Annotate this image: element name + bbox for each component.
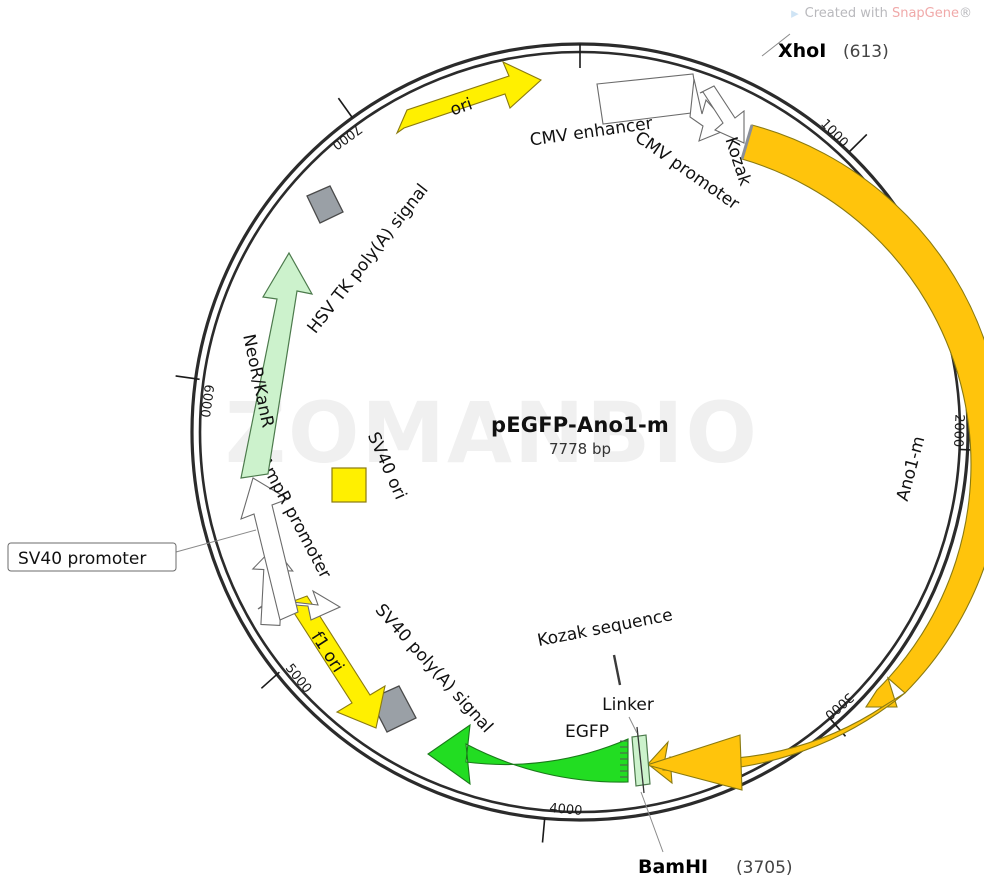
feature-kozak-sequence[interactable]: Kozak sequence [536,605,675,685]
restriction-site-name-bamhi: BamHI [638,856,708,878]
feature-ano1-m[interactable]: Ano1-m [742,125,984,707]
feature-label-egfp: EGFP [565,722,609,742]
ruler-tick-label-3000: 3000 [821,689,856,722]
ruler-tick-label-4000: 4000 [549,801,583,819]
feature-cmv-enhancer[interactable]: CMV enhancer [529,74,699,151]
restriction-site-xhoi[interactable]: XhoI (613) [762,34,889,62]
plasmid-name: pEGFP-Ano1-m [491,413,669,437]
feature-egfp[interactable]: EGFP [428,722,628,784]
feature-ori[interactable]: ori [397,62,541,133]
ruler-tick-1000: 1000 [817,116,867,151]
restriction-site-name-xhoi: XhoI [778,40,826,62]
callout-label-sv40-promoter: SV40 promoter [18,549,146,569]
feature-f1-ori[interactable]: f1 ori [283,596,385,728]
feature-hsv-tk-polya-signal[interactable]: HSV TK poly(A) signal [304,180,433,337]
restriction-site-position-bamhi: (3705) [736,858,793,878]
ruler-tick-4000: 4000 [543,801,583,842]
ruler-tick-label-5000: 5000 [282,661,314,696]
feature-label-ano1-m: Ano1-m [893,434,929,503]
plasmid-map[interactable]: ZOMANBIO 1000 2000 3000 4000 [0,0,984,886]
feature-label-kozak-sequence: Kozak sequence [536,605,675,651]
restriction-site-position-xhoi: (613) [843,42,889,62]
restriction-site-bamhi[interactable]: BamHI (3705) [638,792,793,878]
ruler-tick-label-2000: 2000 [950,414,966,448]
feature-sv40-polya-signal[interactable]: SV40 poly(A) signal [370,600,497,737]
plasmid-size: 7778 bp [549,440,611,458]
feature-label-linker: Linker [602,695,654,715]
ruler-tick-label-6000: 6000 [197,383,216,418]
ruler-tick-7000: 7000 [329,98,365,152]
ruler-tick-label-1000: 1000 [817,116,851,150]
ruler-tick-label-7000: 7000 [329,121,365,153]
